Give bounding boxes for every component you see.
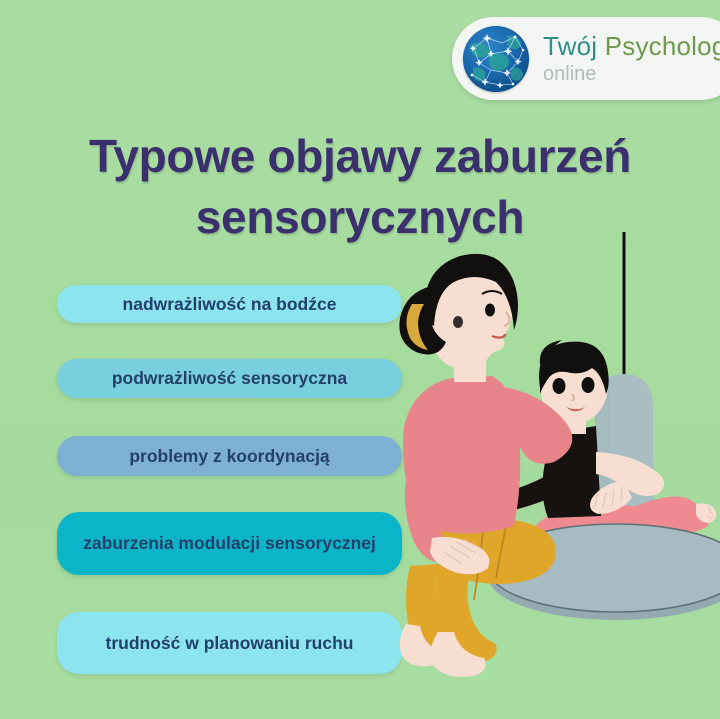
symptom-pill-2: podwrażliwość sensoryczna (57, 359, 402, 398)
brand-title-word2: Psycholog (605, 31, 720, 61)
symptom-pill-3: problemy z koordynacją (57, 436, 402, 476)
symptom-pill-1: nadwrażliwość na bodźce (57, 285, 402, 323)
brand-title: Twój Psycholog (543, 33, 720, 59)
infographic-poster: Twój Psycholog online Typowe objawy zabu… (0, 0, 720, 719)
symptom-pill-5: trudność w planowaniu ruchu (57, 612, 402, 674)
symptom-pill-4: zaburzenia modulacji sensorycznej (57, 512, 402, 575)
therapist-and-child-illustration (396, 226, 720, 719)
globe-network-icon (463, 26, 529, 92)
brand-title-word1: Twój (543, 31, 597, 61)
page-title-line-1: Typowe objawy zaburzeń (0, 126, 720, 187)
brand-subtitle: online (543, 64, 720, 84)
brand-logo-text: Twój Psycholog online (543, 33, 720, 84)
brand-logo-badge[interactable]: Twój Psycholog online (452, 17, 720, 100)
